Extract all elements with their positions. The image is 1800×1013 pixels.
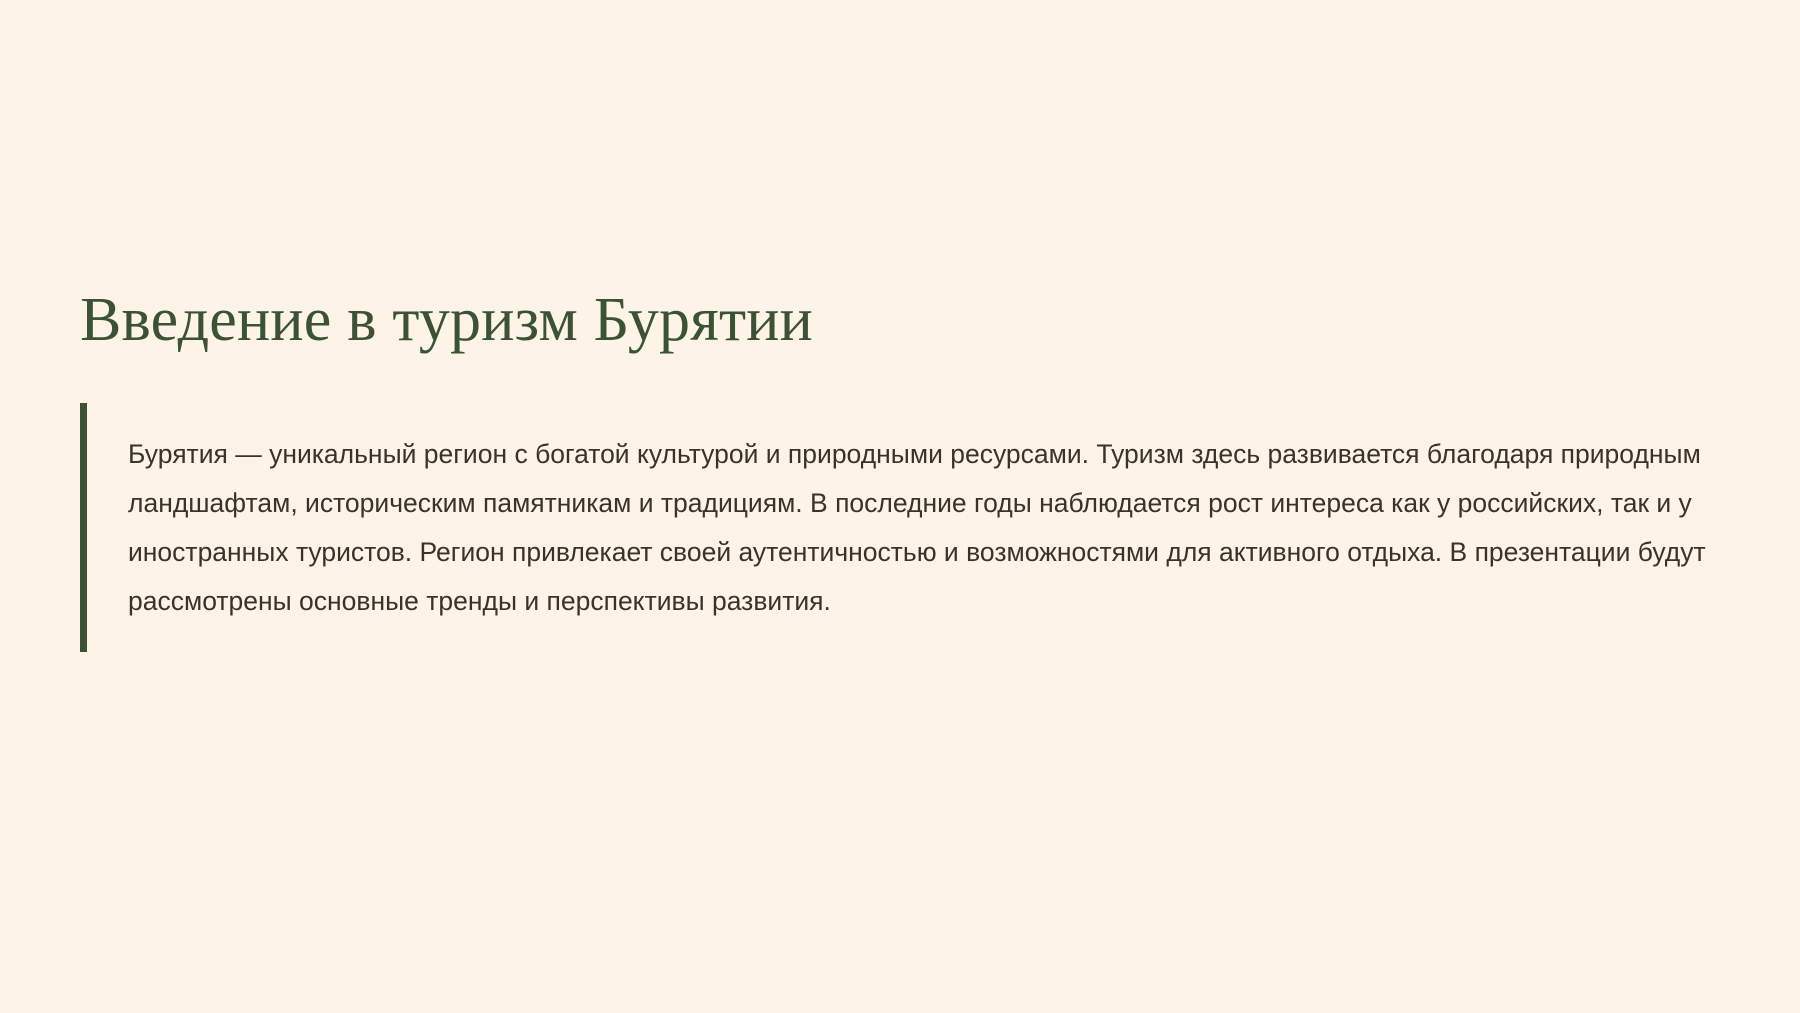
body-paragraph: Бурятия — уникальный регион с богатой ку… bbox=[87, 430, 1720, 626]
quote-block: Бурятия — уникальный регион с богатой ку… bbox=[80, 403, 1720, 652]
slide-content: Введение в туризм Бурятии Бурятия — уник… bbox=[80, 286, 1720, 652]
page-title: Введение в туризм Бурятии bbox=[80, 286, 1720, 355]
accent-bar bbox=[80, 403, 87, 652]
presentation-slide: Введение в туризм Бурятии Бурятия — уник… bbox=[0, 0, 1800, 1013]
